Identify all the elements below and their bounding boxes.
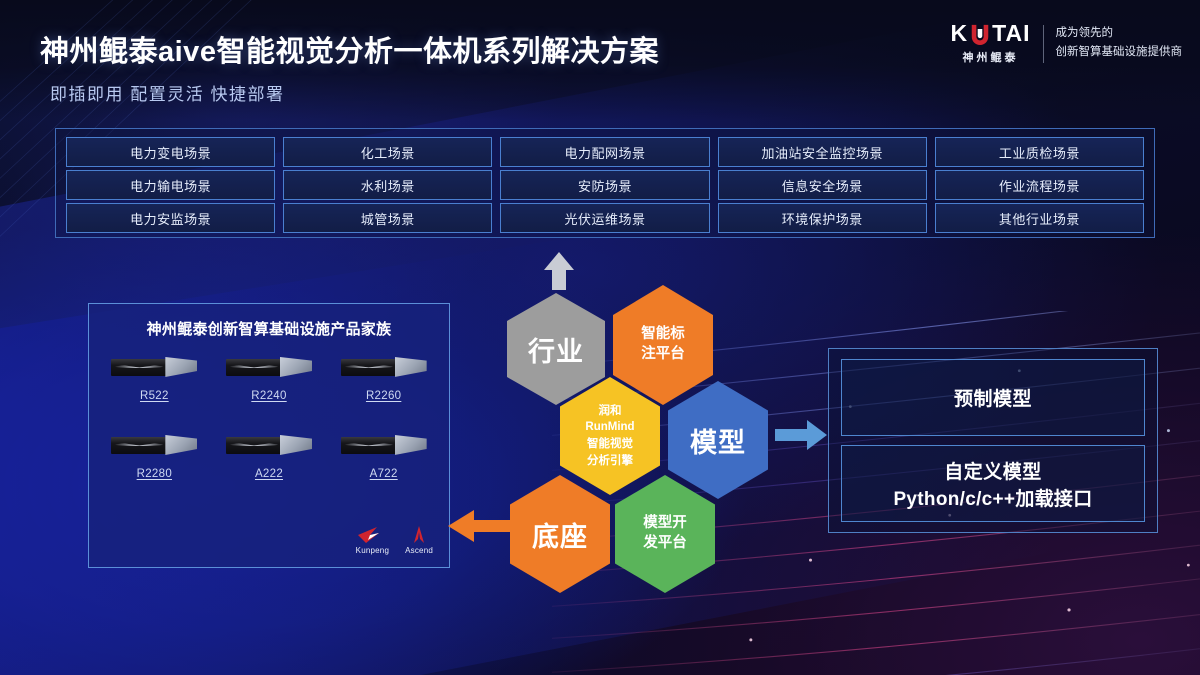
scenario-cell[interactable]: 工业质检场景 bbox=[935, 137, 1144, 167]
hex-dev-platform-text: 模型开 发平台 bbox=[643, 514, 687, 553]
hex-dev-platform[interactable]: 模型开 发平台 bbox=[615, 475, 715, 593]
model-box-preset[interactable]: 预制模型 bbox=[841, 359, 1145, 436]
brand-tagline-line1: 成为领先的 bbox=[1056, 26, 1183, 42]
hex-labeling-platform-line1: 智能标 bbox=[641, 326, 685, 342]
scenario-cell[interactable]: 电力配网场景 bbox=[500, 137, 709, 167]
product-item[interactable]: A722 bbox=[326, 433, 441, 511]
product-family-title: 神州鲲泰创新智算基础设施产品家族 bbox=[89, 318, 449, 339]
model-preset-label: 预制模型 bbox=[954, 384, 1032, 411]
hex-base[interactable]: 底座 bbox=[510, 475, 610, 593]
server-image bbox=[111, 433, 197, 459]
server-image bbox=[226, 433, 312, 459]
brand-wordmark: K TAI bbox=[951, 22, 1031, 45]
server-image bbox=[111, 355, 197, 381]
chip-partner-logos: Kunpeng Ascend bbox=[356, 526, 433, 555]
model-custom-line1: 自定义模型 bbox=[944, 457, 1042, 484]
kuntai-u-mark-icon bbox=[969, 23, 991, 45]
product-label[interactable]: A222 bbox=[255, 468, 283, 480]
hex-model-label: 模型 bbox=[690, 421, 746, 460]
product-item[interactable]: R2280 bbox=[97, 433, 212, 511]
server-image bbox=[341, 433, 427, 459]
hex-dev-platform-line1: 模型开 bbox=[643, 515, 687, 531]
hex-base-label: 底座 bbox=[532, 515, 588, 554]
page-title: 神州鲲泰aive智能视觉分析一体机系列解决方案 bbox=[40, 28, 659, 70]
hex-labeling-platform-text: 智能标 注平台 bbox=[641, 325, 685, 364]
server-image bbox=[226, 355, 312, 381]
arrow-left-to-products bbox=[448, 508, 510, 544]
scenario-cell[interactable]: 化工场景 bbox=[283, 137, 492, 167]
kunpeng-logo-icon bbox=[357, 526, 387, 544]
model-box-custom[interactable]: 自定义模型 Python/c/c++加载接口 bbox=[841, 445, 1145, 522]
model-panel: 预制模型 自定义模型 Python/c/c++加载接口 bbox=[828, 348, 1158, 533]
logo-divider bbox=[1043, 25, 1044, 63]
product-label[interactable]: R2260 bbox=[366, 390, 401, 402]
scenario-cell[interactable]: 作业流程场景 bbox=[935, 170, 1144, 200]
hex-engine-line1: 润和 bbox=[599, 405, 622, 417]
product-label[interactable]: R522 bbox=[140, 390, 169, 402]
scenario-cell[interactable]: 电力安监场景 bbox=[66, 203, 275, 233]
ascend-logo: Ascend bbox=[405, 526, 433, 555]
hexagon-cluster: 行业 智能标 注平台 润和 RunMind 智能视觉 分析引擎 模型 底座 模型… bbox=[505, 285, 815, 580]
product-grid: R522R2240R2260R2280A222A722 bbox=[89, 355, 449, 511]
scenario-grid: 电力变电场景化工场景电力配网场景加油站安全监控场景工业质检场景电力输电场景水利场… bbox=[66, 137, 1144, 229]
scenario-cell[interactable]: 水利场景 bbox=[283, 170, 492, 200]
brand-logo-kuntai: K TAI 神州鲲泰 bbox=[951, 22, 1031, 65]
hex-engine[interactable]: 润和 RunMind 智能视觉 分析引擎 bbox=[560, 377, 660, 495]
scenario-cell[interactable]: 环境保护场景 bbox=[718, 203, 927, 233]
kunpeng-logo: Kunpeng bbox=[356, 526, 389, 555]
product-family-panel: 神州鲲泰创新智算基础设施产品家族 R522R2240R2260R2280A222… bbox=[88, 303, 450, 568]
scenario-cell[interactable]: 电力变电场景 bbox=[66, 137, 275, 167]
hex-engine-line3: 智能视觉 bbox=[587, 438, 633, 450]
page-subtitle: 即插即用 配置灵活 快捷部署 bbox=[50, 80, 284, 105]
model-custom-line2: Python/c/c++加载接口 bbox=[893, 484, 1092, 511]
hex-industry-label: 行业 bbox=[528, 330, 584, 369]
kunpeng-logo-label: Kunpeng bbox=[356, 546, 389, 555]
product-label[interactable]: A722 bbox=[370, 468, 398, 480]
brand-wordmark-right: TAI bbox=[992, 22, 1030, 45]
brand-logo: K TAI 神州鲲泰 成为领先的 创新智算基础设施提供商 bbox=[951, 22, 1182, 65]
product-item[interactable]: R2240 bbox=[212, 355, 327, 433]
hex-engine-text: 润和 RunMind 智能视觉 分析引擎 bbox=[585, 403, 634, 470]
hex-model[interactable]: 模型 bbox=[668, 381, 768, 499]
brand-name-cn: 神州鲲泰 bbox=[963, 49, 1019, 65]
product-label[interactable]: R2240 bbox=[251, 390, 286, 402]
scenario-cell[interactable]: 其他行业场景 bbox=[935, 203, 1144, 233]
product-item[interactable]: R2260 bbox=[326, 355, 441, 433]
hex-labeling-platform-line2: 注平台 bbox=[641, 346, 685, 362]
scenario-cell[interactable]: 加油站安全监控场景 bbox=[718, 137, 927, 167]
brand-tagline: 成为领先的 创新智算基础设施提供商 bbox=[1056, 26, 1183, 60]
scenario-cell[interactable]: 光伏运维场景 bbox=[500, 203, 709, 233]
scenario-panel: 电力变电场景化工场景电力配网场景加油站安全监控场景工业质检场景电力输电场景水利场… bbox=[55, 128, 1155, 238]
scenario-cell[interactable]: 电力输电场景 bbox=[66, 170, 275, 200]
scenario-cell[interactable]: 城管场景 bbox=[283, 203, 492, 233]
product-item[interactable]: A222 bbox=[212, 433, 327, 511]
hex-engine-line4: 分析引擎 bbox=[587, 455, 633, 467]
product-item[interactable]: R522 bbox=[97, 355, 212, 433]
scenario-cell[interactable]: 安防场景 bbox=[500, 170, 709, 200]
ascend-logo-icon bbox=[409, 526, 429, 544]
hex-dev-platform-line2: 发平台 bbox=[643, 535, 687, 551]
page-header: 神州鲲泰aive智能视觉分析一体机系列解决方案 即插即用 配置灵活 快捷部署 K… bbox=[0, 0, 1200, 112]
scenario-cell[interactable]: 信息安全场景 bbox=[718, 170, 927, 200]
server-image bbox=[341, 355, 427, 381]
arrow-right-to-models bbox=[775, 418, 827, 452]
hex-industry[interactable]: 行业 bbox=[507, 293, 605, 405]
brand-wordmark-left: K bbox=[951, 22, 969, 45]
hex-labeling-platform[interactable]: 智能标 注平台 bbox=[613, 285, 713, 405]
arrow-up-to-scenarios bbox=[538, 250, 580, 292]
brand-tagline-line2: 创新智算基础设施提供商 bbox=[1056, 45, 1183, 61]
hex-engine-line2: RunMind bbox=[585, 421, 634, 433]
product-label[interactable]: R2280 bbox=[137, 468, 172, 480]
ascend-logo-label: Ascend bbox=[405, 546, 433, 555]
